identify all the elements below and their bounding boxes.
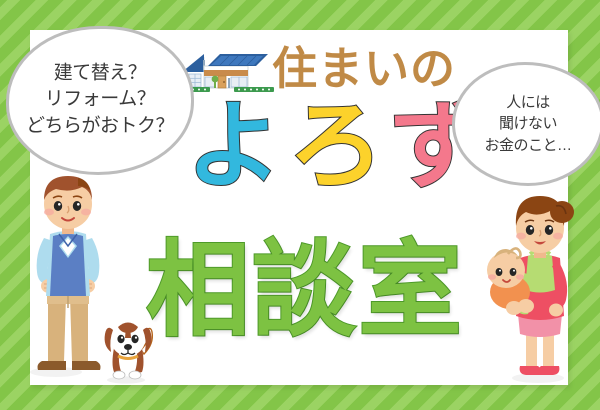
woman-holding-baby-illustration [478, 196, 582, 386]
headline-sumaino: 住まいの [272, 46, 456, 91]
title-char-yo: よ [186, 98, 282, 194]
speech-bubble-left-text: 建て替え？ リフォーム？ どちらがおトク？ [9, 60, 191, 141]
poster-canvas: 住まいの よろず 相談室 建て替え？ リフォーム？ どちらがおトク？ 人には 聞… [0, 0, 600, 410]
speech-bubble-right: 人には 聞けない お金のこと… [452, 62, 600, 186]
subtitle-soudanshitsu: 相談室 [146, 238, 464, 342]
title-char-ro: ろ [288, 98, 384, 194]
speech-bubble-left: 建て替え？ リフォーム？ どちらがおトク？ [6, 26, 194, 175]
speech-bubble-right-text: 人には 聞けない お金のこと… [455, 92, 600, 156]
title-yorozu: よろず [186, 98, 486, 194]
dog-illustration [100, 312, 158, 384]
